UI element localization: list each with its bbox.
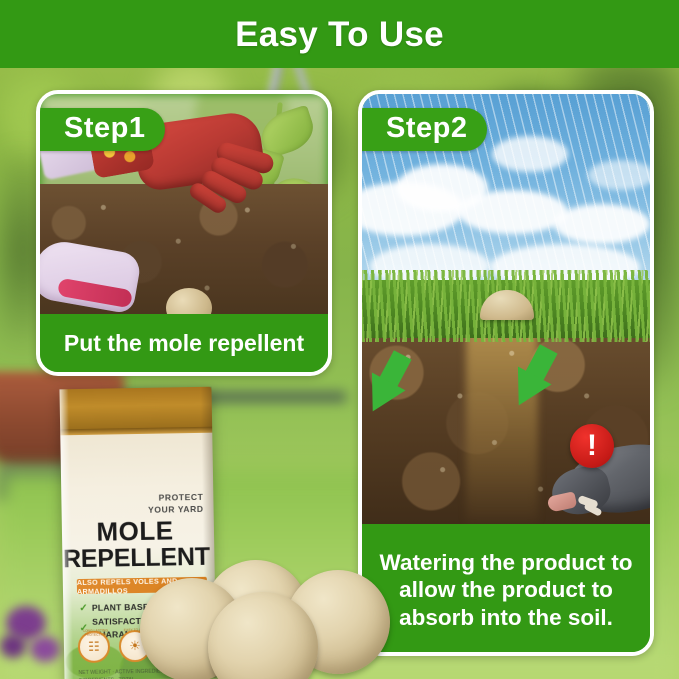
step1-caption: Put the mole repellent [40, 314, 328, 372]
package-tagline: PROTECT YOUR YARD [119, 491, 203, 517]
alert-exclamation: ! [587, 431, 597, 461]
package-product-name-line2: REPELLENT [62, 545, 210, 573]
badge-glyph: ☀ [129, 638, 141, 654]
calendar-badge-icon: LONG LASTING PROTECTION ☷ [78, 631, 111, 664]
background-purple-flower [0, 634, 26, 658]
alert-badge-icon: ! [570, 424, 614, 468]
step1-card: Step1 Put the mole repellent [36, 90, 332, 376]
step2-photo: ! Step2 [362, 94, 650, 524]
page-title: Easy To Use [235, 17, 444, 52]
package-product-name-line1: MOLE [62, 517, 208, 546]
step2-card: ! Step2 Watering the product to allow th… [358, 90, 654, 656]
step2-caption: Watering the product to allow the produc… [362, 524, 650, 656]
step2-badge: Step2 [362, 108, 487, 151]
header-banner: Easy To Use [0, 0, 679, 68]
badge-ring-text: LONG LASTING PROTECTION [77, 628, 115, 637]
background-purple-flower [30, 636, 60, 662]
step1-badge: Step1 [40, 108, 165, 151]
step1-photo: Step1 [40, 94, 328, 314]
badge-glyph: ☷ [88, 639, 100, 655]
check-icon: ✓ [79, 601, 88, 616]
